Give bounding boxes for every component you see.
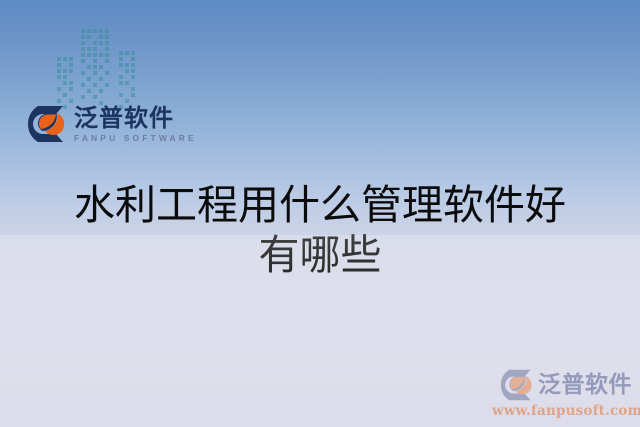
watermark-brand-name: 泛普软件	[538, 374, 632, 397]
brand-wordmark: 泛普软件 FANPU SOFTWARE	[74, 106, 197, 143]
brand-name-en: FANPU SOFTWARE	[74, 134, 197, 143]
brand-name-cn: 泛普软件	[74, 106, 197, 131]
watermark-url: www.fanpusoft.com	[492, 403, 630, 419]
page-title-line-1: 水利工程用什么管理软件好	[16, 180, 624, 230]
page-title-line-2: 有哪些	[16, 230, 624, 280]
watermark-fanpu-logo-icon	[500, 368, 534, 402]
brand-logo: 泛普软件 FANPU SOFTWARE	[27, 104, 197, 144]
pixel-skyline-icon	[52, 22, 144, 114]
page-title: 水利工程用什么管理软件好 有哪些	[0, 180, 640, 281]
poster-canvas: 泛普软件 FANPU SOFTWARE 水利工程用什么管理软件好 有哪些 泛普软…	[0, 0, 640, 427]
watermark-logo-row: 泛普软件	[492, 368, 632, 402]
fanpu-logo-icon	[27, 104, 67, 144]
watermark: 泛普软件 www.fanpusoft.com	[492, 368, 632, 419]
